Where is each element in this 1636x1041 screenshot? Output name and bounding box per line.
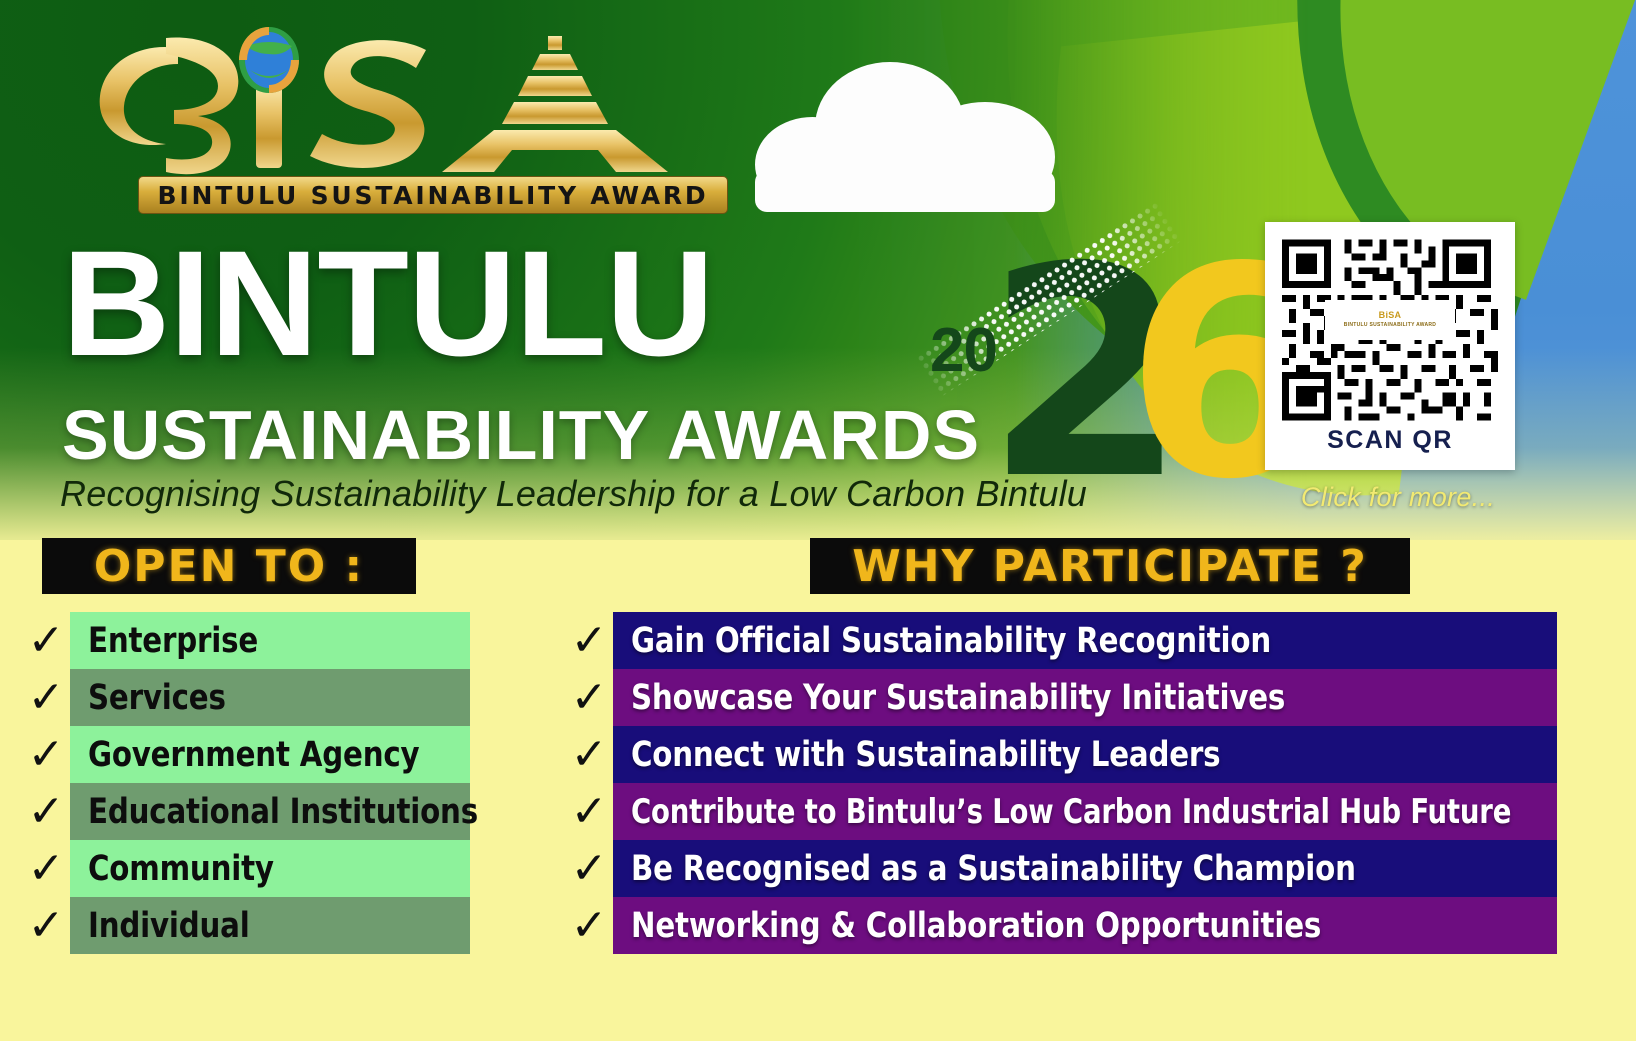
poster-root: BINTULU SUSTAINABILITY AWARD BINTULU SUS… (0, 0, 1636, 1041)
open-to-item-label: Individual (88, 906, 250, 946)
page-subtitle: SUSTAINABILITY AWARDS (62, 400, 980, 470)
why-participate-item-label: Contribute to Bintulu’s Low Carbon Indus… (631, 792, 1511, 832)
bisa-logo: BINTULU SUSTAINABILITY AWARD (70, 26, 670, 218)
globe-icon (239, 27, 299, 93)
why-participate-item-label: Networking & Collaboration Opportunities (631, 906, 1321, 946)
check-icon: ✓ (565, 847, 613, 891)
check-icon: ✓ (565, 676, 613, 720)
check-icon: ✓ (22, 904, 70, 948)
check-icon: ✓ (22, 733, 70, 777)
list-item[interactable]: ✓ Educational Institutions (22, 783, 482, 840)
list-item[interactable]: ✓ Services (22, 669, 482, 726)
open-to-heading-text: OPEN TO : (94, 541, 364, 592)
qr-label: SCAN QR (1275, 426, 1505, 455)
check-icon: ✓ (22, 619, 70, 663)
list-item[interactable]: ✓ Gain Official Sustainability Recogniti… (565, 612, 1565, 669)
why-participate-list: ✓ Gain Official Sustainability Recogniti… (565, 612, 1565, 954)
tower-icon (442, 36, 668, 172)
logo-nameplate: BINTULU SUSTAINABILITY AWARD (138, 176, 728, 214)
open-to-heading-banner: OPEN TO : (42, 538, 416, 594)
list-item[interactable]: ✓ Enterprise (22, 612, 482, 669)
check-icon: ✓ (565, 619, 613, 663)
qr-code[interactable]: BiSA BINTULU SUSTAINABILITY AWARD (1275, 232, 1505, 428)
year-prefix: 20 (930, 320, 997, 382)
check-icon: ✓ (22, 847, 70, 891)
check-icon: ✓ (22, 790, 70, 834)
logo-nameplate-text: BINTULU SUSTAINABILITY AWARD (158, 181, 709, 210)
open-to-list: ✓ Enterprise ✓ Services ✓ Government Age… (22, 612, 482, 954)
check-icon: ✓ (565, 904, 613, 948)
qr-center-logo: BiSA BINTULU SUSTAINABILITY AWARD (1325, 300, 1455, 340)
click-for-more-link[interactable]: Click for more... (1298, 482, 1498, 513)
open-to-item-label: Government Agency (88, 735, 419, 775)
open-to-item-label: Enterprise (88, 621, 258, 661)
list-item[interactable]: ✓ Be Recognised as a Sustainability Cham… (565, 840, 1565, 897)
check-icon: ✓ (565, 790, 613, 834)
list-item[interactable]: ✓ Showcase Your Sustainability Initiativ… (565, 669, 1565, 726)
list-item[interactable]: ✓ Connect with Sustainability Leaders (565, 726, 1565, 783)
list-item[interactable]: ✓ Government Agency (22, 726, 482, 783)
list-item[interactable]: ✓ Individual (22, 897, 482, 954)
why-participate-item-label: Connect with Sustainability Leaders (631, 735, 1220, 775)
qr-center-logo-sub: BINTULU SUSTAINABILITY AWARD (1344, 320, 1436, 330)
why-participate-item-label: Be Recognised as a Sustainability Champi… (631, 849, 1356, 889)
check-icon: ✓ (565, 733, 613, 777)
open-to-item-label: Services (88, 678, 226, 718)
year-graphic: 2 6 20 (920, 245, 1220, 495)
qr-card[interactable]: BiSA BINTULU SUSTAINABILITY AWARD SCAN Q… (1265, 222, 1515, 470)
why-participate-heading-banner: WHY PARTICIPATE ? (810, 538, 1410, 594)
why-participate-item-label: Showcase Your Sustainability Initiatives (631, 678, 1285, 718)
why-participate-heading-text: WHY PARTICIPATE ? (852, 541, 1368, 592)
bisa-logo-mark (70, 26, 670, 176)
list-item[interactable]: ✓ Networking & Collaboration Opportuniti… (565, 897, 1565, 954)
list-item[interactable]: ✓ Contribute to Bintulu’s Low Carbon Ind… (565, 783, 1565, 840)
open-to-item-label: Community (88, 849, 274, 889)
open-to-item-label: Educational Institutions (88, 792, 478, 832)
page-title: BINTULU (62, 228, 713, 378)
check-icon: ✓ (22, 676, 70, 720)
qr-center-logo-text: BiSA (1344, 310, 1436, 320)
list-item[interactable]: ✓ Community (22, 840, 482, 897)
why-participate-item-label: Gain Official Sustainability Recognition (631, 621, 1271, 661)
